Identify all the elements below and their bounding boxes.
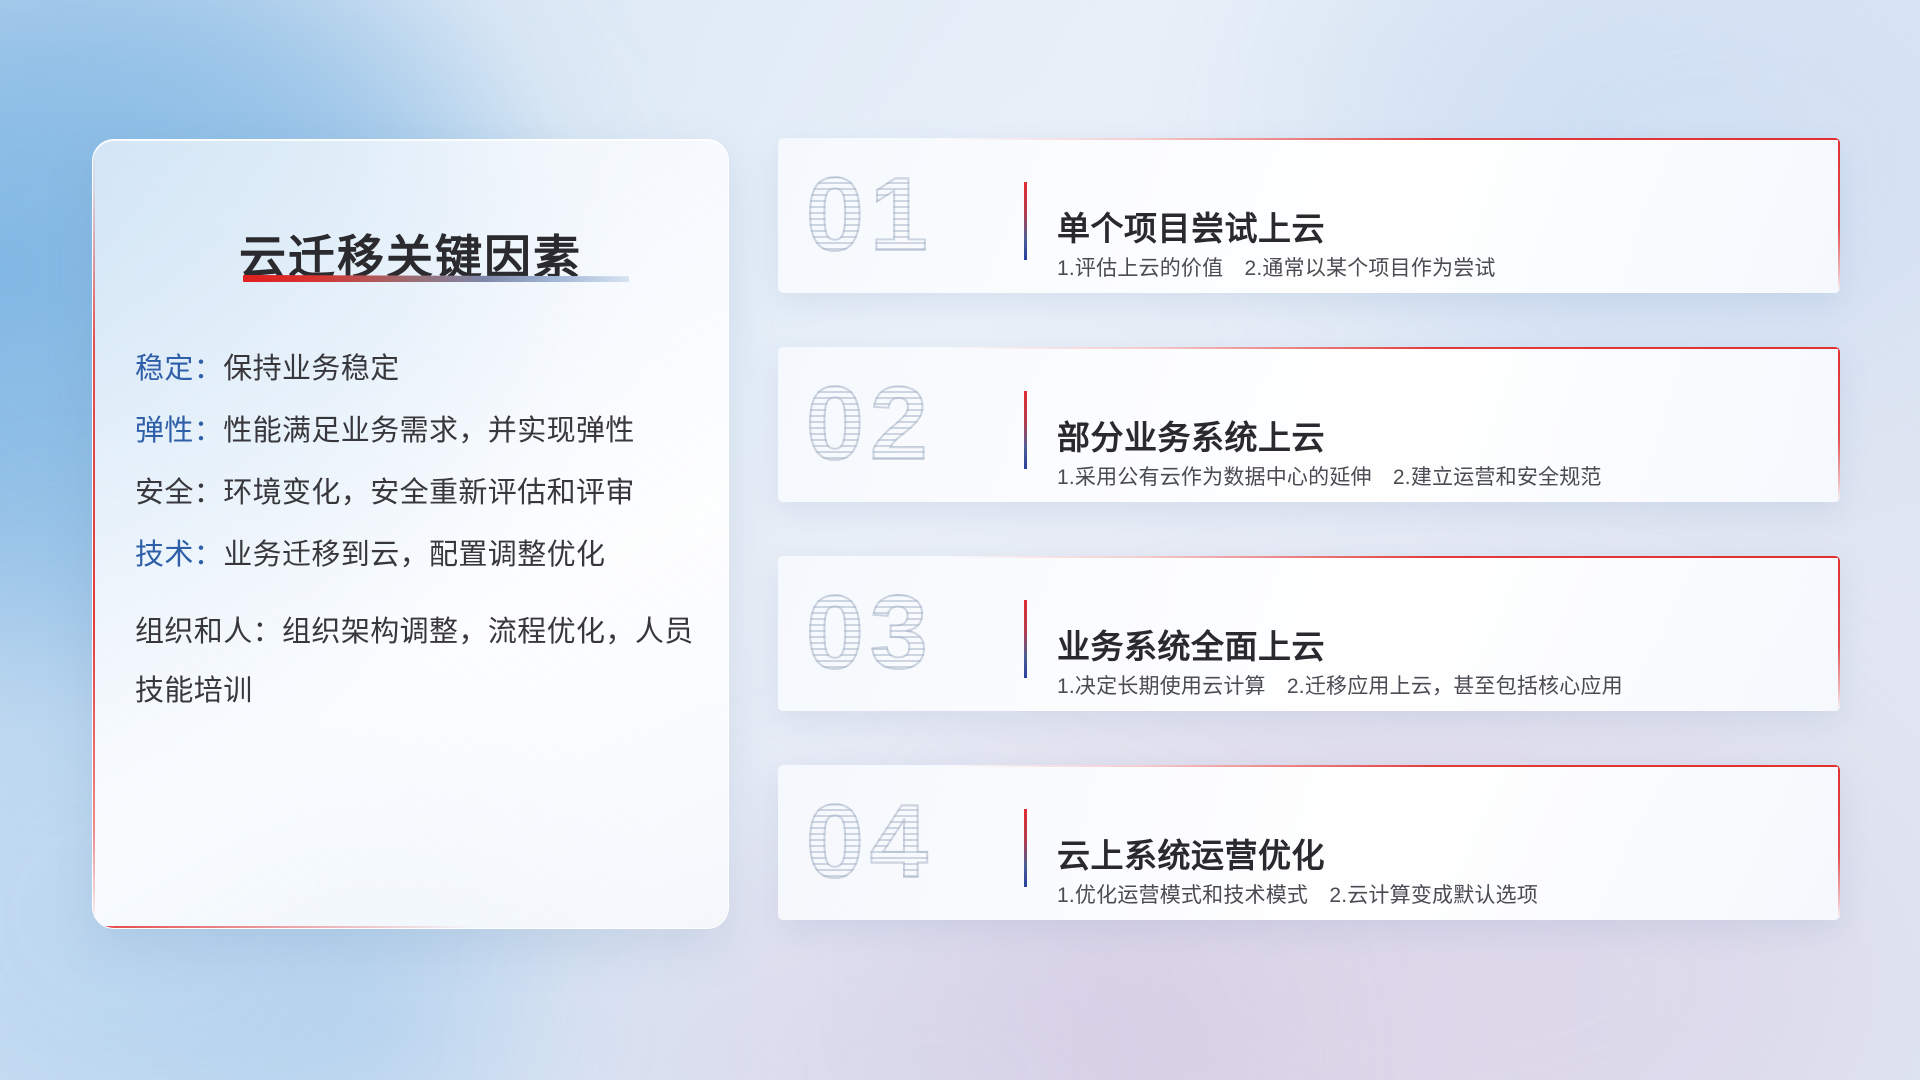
stage-card-list: 01 单个项目尝试上云 1.评估上云的价值 2.通常以某个项目作为尝试 02 部… (778, 138, 1840, 920)
stage-title: 云上系统运营优化 (1057, 829, 1325, 877)
card-divider-bar (1024, 809, 1027, 887)
card-top-accent-line (778, 556, 1840, 558)
card-right-accent-line (1838, 765, 1840, 920)
slide-canvas: 云迁移关键因素 稳定：保持业务稳定 弹性：性能满足业务需求，并实现弹性 安全：环… (0, 0, 1920, 1080)
factor-key: 组织和人： (135, 616, 282, 648)
panel-bottom-accent-line (93, 926, 474, 928)
stage-subtitle: 1.决定长期使用云计算 2.迁移应用上云，甚至包括核心应用 (1057, 670, 1623, 700)
card-right-accent-line (1838, 347, 1840, 502)
stage-card[interactable]: 03 业务系统全面上云 1.决定长期使用云计算 2.迁移应用上云，甚至包括核心应… (778, 556, 1840, 711)
stage-title: 业务系统全面上云 (1057, 620, 1325, 668)
card-right-accent-line (1838, 556, 1840, 711)
factor-key: 稳定： (135, 353, 223, 385)
card-top-accent-line (778, 347, 1840, 349)
factor-key: 弹性： (135, 415, 223, 447)
stage-title: 部分业务系统上云 (1057, 411, 1325, 459)
stage-number-watermark: 03 (806, 570, 1016, 696)
factor-text: 环境变化，安全重新评估和评审 (223, 477, 635, 509)
key-factors-panel: 云迁移关键因素 稳定：保持业务稳定 弹性：性能满足业务需求，并实现弹性 安全：环… (92, 139, 729, 929)
factor-key: 安全： (135, 477, 223, 509)
factor-item: 安全：环境变化，安全重新评估和评审 (135, 479, 694, 508)
factor-item: 弹性：性能满足业务需求，并实现弹性 (135, 417, 694, 446)
factor-text: 业务迁移到云，配置调整优化 (223, 539, 605, 571)
stage-subtitle: 1.评估上云的价值 2.通常以某个项目作为尝试 (1057, 252, 1496, 282)
card-divider-bar (1024, 600, 1027, 678)
card-top-accent-line (778, 138, 1840, 140)
card-top-accent-line (778, 765, 1840, 767)
factor-text: 保持业务稳定 (223, 353, 399, 385)
card-divider-bar (1024, 182, 1027, 260)
factor-item: 组织和人：组织架构调整，流程优化，人员技能培训 (135, 603, 694, 722)
stage-number-watermark: 02 (806, 361, 1016, 487)
factor-item: 稳定：保持业务稳定 (135, 355, 694, 384)
stage-number-watermark: 01 (806, 152, 1016, 278)
factor-item: 技术：业务迁移到云，配置调整优化 (135, 541, 694, 570)
stage-title: 单个项目尝试上云 (1057, 202, 1325, 250)
stage-subtitle: 1.采用公有云作为数据中心的延伸 2.建立运营和安全规范 (1057, 461, 1602, 491)
stage-card[interactable]: 02 部分业务系统上云 1.采用公有云作为数据中心的延伸 2.建立运营和安全规范 (778, 347, 1840, 502)
stage-card[interactable]: 01 单个项目尝试上云 1.评估上云的价值 2.通常以某个项目作为尝试 (778, 138, 1840, 293)
factor-list: 稳定：保持业务稳定 弹性：性能满足业务需求，并实现弹性 安全：环境变化，安全重新… (135, 355, 694, 722)
factor-key: 技术： (135, 539, 223, 571)
stage-number-watermark: 04 (806, 779, 1016, 905)
card-right-accent-line (1838, 138, 1840, 293)
card-divider-bar (1024, 391, 1027, 469)
factor-text: 性能满足业务需求，并实现弹性 (223, 415, 635, 447)
stage-card[interactable]: 04 云上系统运营优化 1.优化运营模式和技术模式 2.云计算变成默认选项 (778, 765, 1840, 920)
stage-subtitle: 1.优化运营模式和技术模式 2.云计算变成默认选项 (1057, 879, 1538, 909)
